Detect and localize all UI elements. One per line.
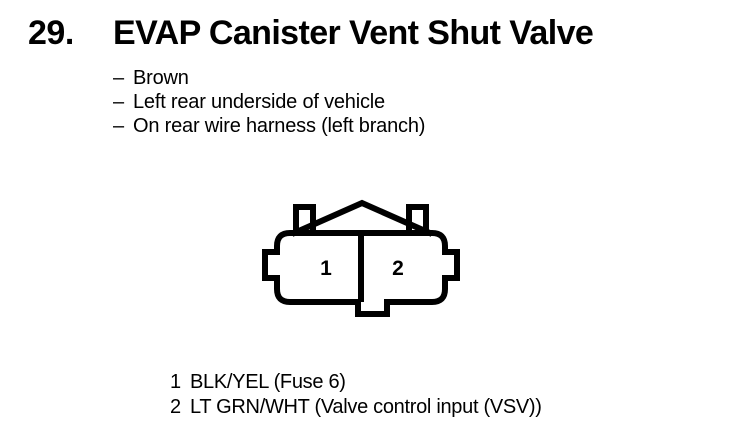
pin-2-label: 2 <box>392 257 404 280</box>
list-item: – Left rear underside of vehicle <box>113 90 633 114</box>
pin-legend: 1 BLK/YEL (Fuse 6) 2 LT GRN/WHT (Valve c… <box>170 370 690 420</box>
diagram-page: 29. EVAP Canister Vent Shut Valve – Brow… <box>0 0 752 446</box>
detail-list: – Brown – Left rear underside of vehicle… <box>113 66 633 138</box>
legend-pin-description: LT GRN/WHT (Valve control input (VSV)) <box>190 395 542 420</box>
list-item: – Brown <box>113 66 633 90</box>
legend-row: 1 BLK/YEL (Fuse 6) <box>170 370 690 395</box>
dash-bullet-icon: – <box>113 90 133 114</box>
pin-1-label: 1 <box>320 257 332 280</box>
connector-diagram: 1 2 <box>252 190 482 330</box>
dash-bullet-icon: – <box>113 114 133 138</box>
legend-pin-number: 1 <box>170 370 190 395</box>
page-title: EVAP Canister Vent Shut Valve <box>113 14 593 52</box>
list-item-label: Left rear underside of vehicle <box>133 90 385 114</box>
legend-row: 2 LT GRN/WHT (Valve control input (VSV)) <box>170 395 690 420</box>
dash-bullet-icon: – <box>113 66 133 90</box>
item-number: 29. <box>28 14 74 52</box>
legend-pin-description: BLK/YEL (Fuse 6) <box>190 370 346 395</box>
list-item-label: Brown <box>133 66 189 90</box>
list-item: – On rear wire harness (left branch) <box>113 114 633 138</box>
legend-pin-number: 2 <box>170 395 190 420</box>
list-item-label: On rear wire harness (left branch) <box>133 114 425 138</box>
